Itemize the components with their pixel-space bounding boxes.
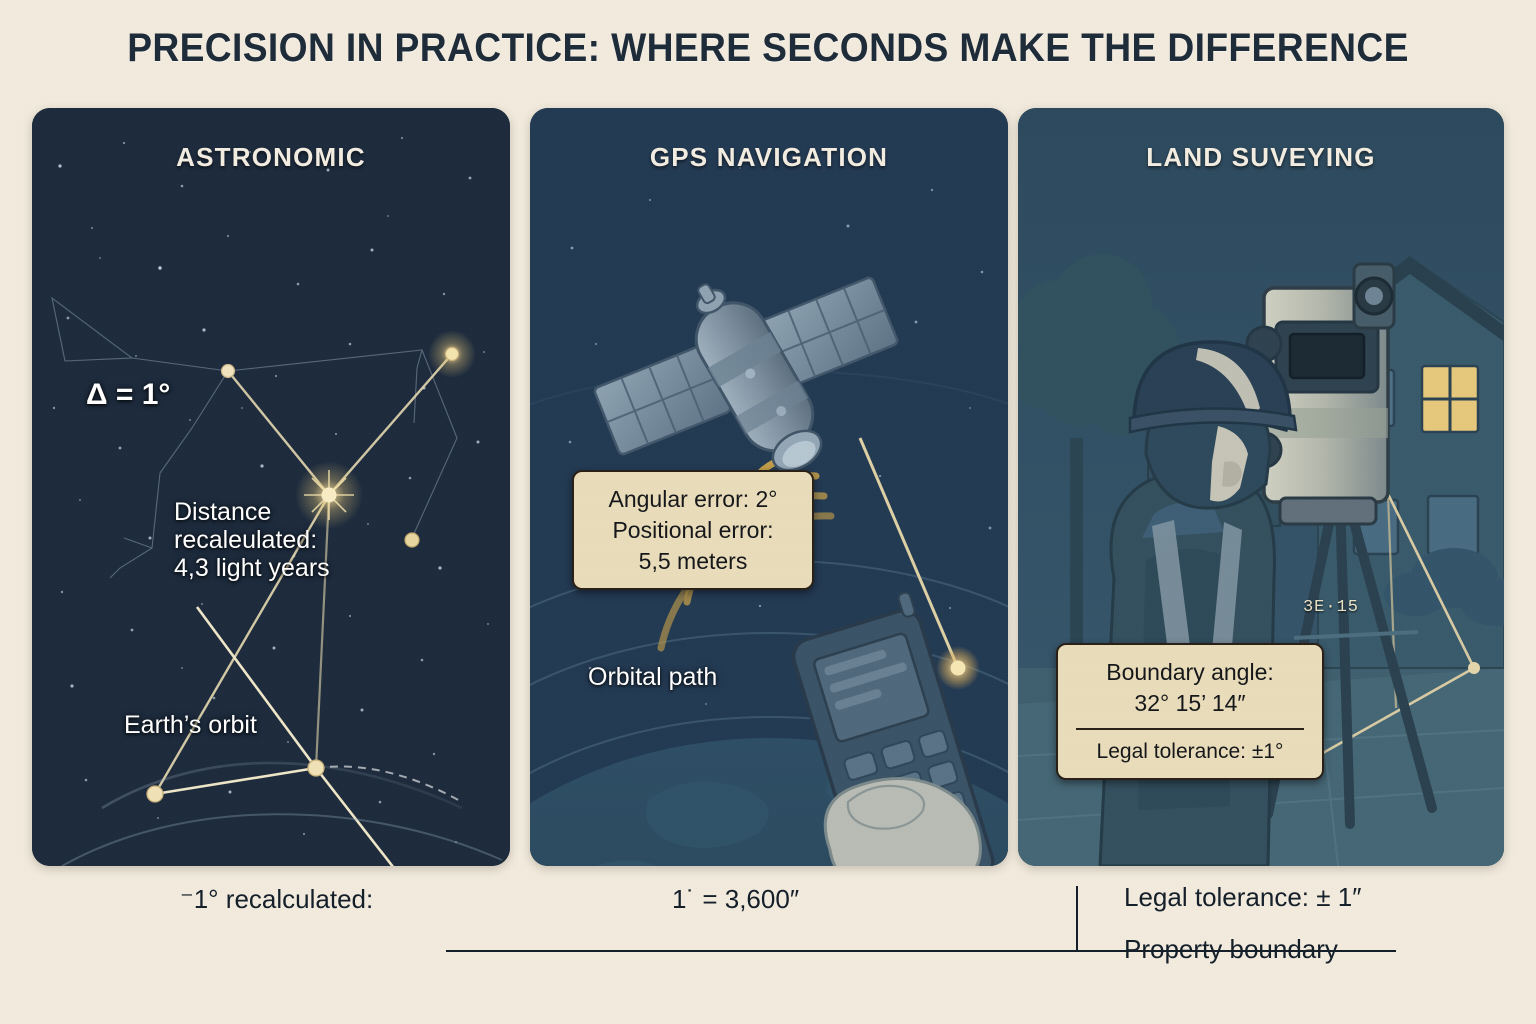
- panel-land-title: LAND SUVEYING: [1018, 142, 1504, 173]
- footer-right-note-1: Legal tolerance: ± 1″: [1124, 882, 1361, 913]
- label-distance-line2: recaleulated:: [174, 526, 484, 554]
- label-earths-orbit: Earth’s orbit: [124, 711, 257, 739]
- panel-gps-navigation: GPS NAVIGATION Angular error: 2° Positio…: [530, 108, 1008, 866]
- panel-gps-title: GPS NAVIGATION: [530, 142, 1008, 173]
- boundary-angle-callout: Boundary angle: 32° 15’ 14″ Legal tolera…: [1056, 643, 1324, 780]
- label-distance-line1: Distance: [174, 498, 484, 526]
- panel-row: ASTRONOMIC Δ = 1° Distance recaleulated:…: [32, 108, 1504, 866]
- boundary-angle-label: Boundary angle:: [1074, 657, 1306, 688]
- legal-tolerance-value: Legal tolerance: ±1°: [1074, 738, 1306, 766]
- surveyor: [1100, 342, 1296, 866]
- callout-divider: [1076, 728, 1304, 730]
- panel-astronomic: ASTRONOMIC Δ = 1° Distance recaleulated:…: [32, 108, 510, 866]
- star-node: [222, 365, 235, 378]
- label-orbital-path: Orbital path: [588, 663, 717, 691]
- earth-position-b: [308, 760, 324, 776]
- star-chart-illustration: [32, 108, 510, 866]
- ground-beacon: [951, 661, 966, 676]
- panel-land-surveying: LAND SUVEYING 3E·15 Boundary angle: 32° …: [1018, 108, 1504, 866]
- gps-angular-error: Angular error: 2°: [590, 484, 796, 515]
- footer-legend: ⁻1° recalculated: 1˙ = 3,600″ Legal tole…: [0, 872, 1536, 1024]
- panel-astronomic-title: ASTRONOMIC: [32, 142, 510, 173]
- gps-error-callout: Angular error: 2° Positional error: 5,5 …: [572, 470, 814, 590]
- gps-positional-error-value: 5,5 meters: [590, 546, 796, 577]
- footer-center-note: 1˙ = 3,600″: [672, 884, 799, 915]
- theodolite-readout: 3E·15: [1296, 598, 1366, 617]
- footer-vertical-tick: [1076, 886, 1078, 952]
- label-distance-line3: 4,3 light years: [174, 554, 484, 582]
- footer-horizontal-rule: [446, 950, 1396, 952]
- earth-position-a: [147, 786, 163, 802]
- footer-left-note: ⁻1° recalculated:: [180, 884, 373, 915]
- boundary-angle-value: 32° 15’ 14″: [1074, 688, 1306, 719]
- page-title: PRECISION IN PRACTICE: WHERE SECONDS MAK…: [54, 26, 1482, 71]
- label-delta-angle: Δ = 1°: [86, 378, 170, 412]
- label-distance-recalculated: Distance recaleulated: 4,3 light years: [174, 498, 484, 582]
- boundary-marker: [1468, 662, 1480, 674]
- gps-positional-error-label: Positional error:: [590, 515, 796, 546]
- star-node: [446, 348, 459, 361]
